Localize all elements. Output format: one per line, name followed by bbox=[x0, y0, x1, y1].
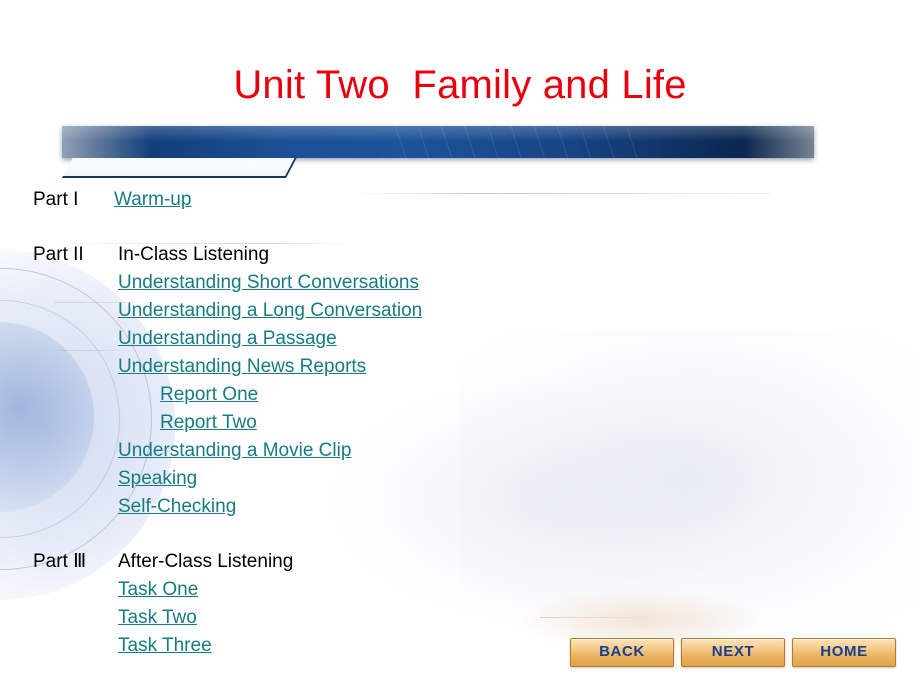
outline-link[interactable]: Understanding a Passage bbox=[118, 325, 337, 353]
outline-link[interactable]: Understanding Short Conversations bbox=[118, 269, 419, 297]
outline-row: Part ⅢAfter-Class Listening bbox=[0, 548, 920, 576]
outline-link[interactable]: Understanding a Movie Clip bbox=[118, 437, 351, 465]
outline-link[interactable]: Report One bbox=[160, 381, 258, 409]
outline-link[interactable]: Speaking bbox=[118, 465, 197, 493]
banner-fade-right bbox=[744, 126, 814, 158]
outline-row: Understanding a Movie Clip bbox=[0, 437, 920, 465]
outline-row: Task Two bbox=[0, 604, 920, 632]
outline-spacer bbox=[0, 521, 920, 548]
outline-row: Task One bbox=[0, 576, 920, 604]
part-label: Part II bbox=[33, 241, 84, 269]
outline-link[interactable]: Understanding News Reports bbox=[118, 353, 366, 381]
page-title: Unit Two Family and Life bbox=[0, 57, 920, 113]
outline-link[interactable]: Warm-up bbox=[114, 186, 191, 214]
banner-fade-left bbox=[62, 126, 152, 158]
outline-row: Self-Checking bbox=[0, 493, 920, 521]
outline-link[interactable]: Report Two bbox=[160, 409, 257, 437]
outline-link[interactable]: Task One bbox=[118, 576, 198, 604]
outline-list: Part IWarm-upPart IIIn-Class ListeningUn… bbox=[0, 186, 920, 660]
header-banner bbox=[62, 126, 814, 158]
outline-text: After-Class Listening bbox=[118, 548, 293, 576]
slide: Unit Two Family and Life Part IWarm-upPa… bbox=[0, 0, 920, 690]
outline-row: Part IIIn-Class Listening bbox=[0, 241, 920, 269]
outline-row: Understanding a Long Conversation bbox=[0, 297, 920, 325]
outline-link[interactable]: Understanding a Long Conversation bbox=[118, 297, 422, 325]
outline-row: Understanding Short Conversations bbox=[0, 269, 920, 297]
outline-row: Understanding a Passage bbox=[0, 325, 920, 353]
back-button[interactable]: BACK bbox=[570, 638, 674, 667]
outline-link[interactable]: Task Two bbox=[118, 604, 197, 632]
part-label: Part I bbox=[33, 186, 78, 214]
home-button[interactable]: HOME bbox=[792, 638, 896, 667]
banner-tail-shape bbox=[62, 158, 297, 178]
banner-hatch-pattern bbox=[382, 126, 642, 158]
outline-row: Part IWarm-up bbox=[0, 186, 920, 214]
outline-text: In-Class Listening bbox=[118, 241, 269, 269]
outline-spacer bbox=[0, 214, 920, 241]
outline-row: Report One bbox=[0, 381, 920, 409]
outline-row: Report Two bbox=[0, 409, 920, 437]
next-button[interactable]: NEXT bbox=[681, 638, 785, 667]
outline-link[interactable]: Self-Checking bbox=[118, 493, 236, 521]
navigation-bar: BACK NEXT HOME bbox=[570, 638, 896, 666]
outline-row: Understanding News Reports bbox=[0, 353, 920, 381]
part-label: Part Ⅲ bbox=[33, 548, 86, 576]
outline-link[interactable]: Task Three bbox=[118, 632, 212, 660]
outline-row: Speaking bbox=[0, 465, 920, 493]
